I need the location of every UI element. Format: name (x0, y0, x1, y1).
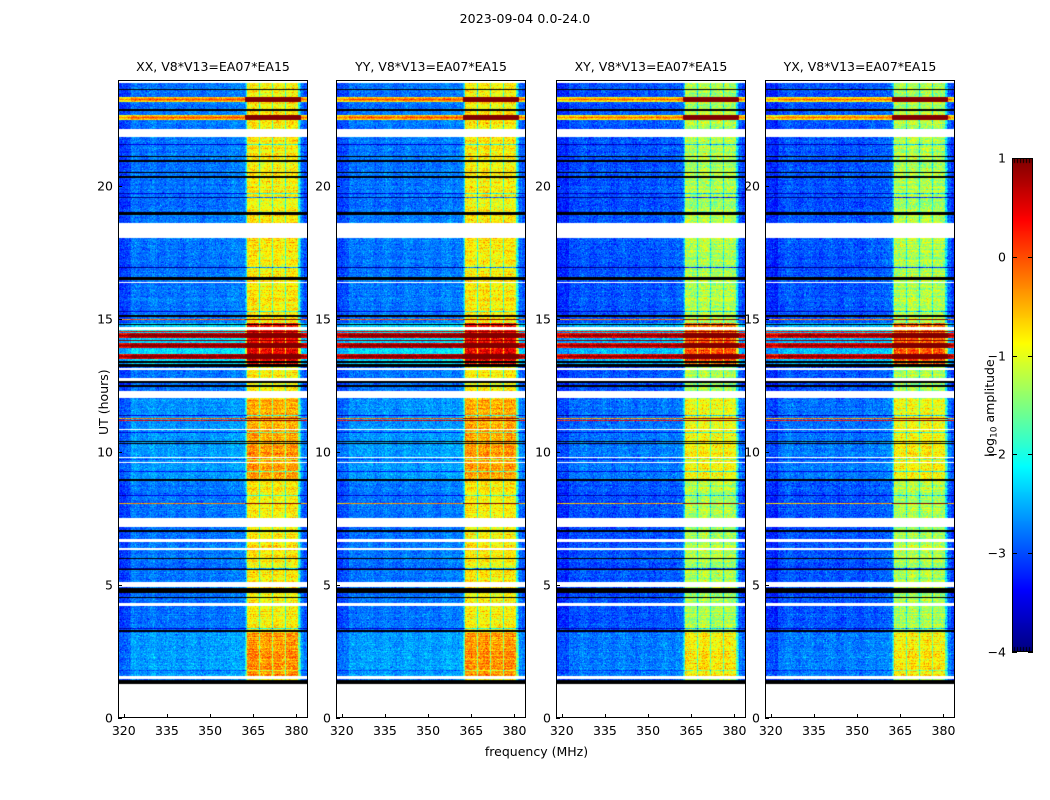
y-tickmark (336, 319, 340, 320)
x-tick-label: 320 (112, 723, 136, 738)
y-tick-label: 15 (88, 312, 113, 327)
y-tick-label: 20 (735, 179, 760, 194)
y-tick-label: 15 (306, 312, 331, 327)
x-tickmark (296, 714, 297, 718)
x-tick-label: 365 (241, 723, 265, 738)
x-tick-label: 350 (198, 723, 222, 738)
x-tick-label: 365 (459, 723, 483, 738)
y-tick-label: 10 (526, 445, 551, 460)
y-tickmark (556, 452, 560, 453)
x-tick-label: 320 (330, 723, 354, 738)
y-tick-label: 5 (526, 578, 551, 593)
y-tick-label: 5 (735, 578, 760, 593)
colorbar[interactable] (1012, 158, 1033, 652)
colorbar-tickmark (1028, 553, 1033, 554)
y-tickmark (765, 718, 769, 719)
colorbar-tickmark (1028, 356, 1033, 357)
x-tick-label: 320 (550, 723, 574, 738)
y-tick-label: 10 (306, 445, 331, 460)
x-tickmark (648, 714, 649, 718)
colorbar-tickmark (1012, 257, 1017, 258)
x-tickmark (253, 714, 254, 718)
y-tickmark (336, 585, 340, 586)
y-tickmark (118, 718, 122, 719)
x-tick-label: 365 (679, 723, 703, 738)
x-tickmark (167, 714, 168, 718)
panel-yx[interactable]: YX, V8*V13=EA07*EA15 (765, 80, 955, 718)
y-tickmark (765, 319, 769, 320)
panel-xx[interactable]: XX, V8*V13=EA07*EA15 (118, 80, 308, 718)
x-tickmark (691, 714, 692, 718)
y-tick-label: 0 (526, 711, 551, 726)
y-tickmark (556, 718, 560, 719)
x-tick-label: 335 (802, 723, 826, 738)
panel-yy[interactable]: YY, V8*V13=EA07*EA15 (336, 80, 526, 718)
y-tick-label: 5 (306, 578, 331, 593)
y-tickmark (118, 585, 122, 586)
x-tickmark (605, 714, 606, 718)
figure-suptitle: 2023-09-04 0.0-24.0 (0, 11, 1050, 26)
y-tick-label: 20 (526, 179, 551, 194)
panel-yx-waterfall-image (765, 80, 955, 718)
panel-xx-title: XX, V8*V13=EA07*EA15 (118, 59, 308, 74)
x-tickmark (771, 714, 772, 718)
panel-yx-title: YX, V8*V13=EA07*EA15 (765, 59, 955, 74)
y-tickmark (118, 186, 122, 187)
y-tickmark (118, 452, 122, 453)
x-tick-label: 350 (636, 723, 660, 738)
y-tick-label: 10 (735, 445, 760, 460)
colorbar-tickmark (1012, 356, 1017, 357)
y-tickmark (556, 585, 560, 586)
x-tick-label: 380 (285, 723, 309, 738)
x-tickmark (385, 714, 386, 718)
x-tick-label: 335 (593, 723, 617, 738)
y-tick-label: 0 (88, 711, 113, 726)
x-tickmark (900, 714, 901, 718)
y-tickmark (118, 319, 122, 320)
x-tick-label: 320 (759, 723, 783, 738)
colorbar-tickmark (1028, 454, 1033, 455)
y-tickmark (765, 585, 769, 586)
colorbar-tickmark (1012, 454, 1017, 455)
colorbar-gradient (1012, 158, 1033, 652)
y-tickmark (765, 186, 769, 187)
colorbar-tickmark (1028, 652, 1033, 653)
x-tickmark (428, 714, 429, 718)
x-tickmark (514, 714, 515, 718)
panel-xy-waterfall-image (556, 80, 746, 718)
x-tick-label: 380 (503, 723, 527, 738)
x-tickmark (124, 714, 125, 718)
x-tickmark (857, 714, 858, 718)
colorbar-tickmark (1028, 158, 1033, 159)
panel-yy-title: YY, V8*V13=EA07*EA15 (336, 59, 526, 74)
colorbar-label: log10 amplitude (982, 359, 999, 457)
y-tick-label: 0 (306, 711, 331, 726)
x-tick-label: 350 (416, 723, 440, 738)
y-tick-label: 15 (526, 312, 551, 327)
x-tick-label: 380 (932, 723, 956, 738)
x-tick-label: 365 (888, 723, 912, 738)
x-tickmark (562, 714, 563, 718)
colorbar-tickmark (1012, 553, 1017, 554)
y-tick-label: 20 (306, 179, 331, 194)
y-tick-label: 0 (735, 711, 760, 726)
x-tickmark (814, 714, 815, 718)
panel-xy[interactable]: XY, V8*V13=EA07*EA15 (556, 80, 746, 718)
colorbar-tick-label: −3 (976, 546, 1006, 561)
colorbar-tick-label: −4 (976, 645, 1006, 660)
y-tick-label: 15 (735, 312, 760, 327)
panel-xy-title: XY, V8*V13=EA07*EA15 (556, 59, 746, 74)
colorbar-tick-label: 1 (976, 151, 1006, 166)
y-tickmark (556, 186, 560, 187)
colorbar-tickmark (1028, 257, 1033, 258)
x-axis-label: frequency (MHz) (118, 744, 955, 759)
y-tick-label: 10 (88, 445, 113, 460)
y-tick-label: 20 (88, 179, 113, 194)
x-tick-label: 335 (373, 723, 397, 738)
y-tickmark (336, 186, 340, 187)
y-tickmark (765, 452, 769, 453)
colorbar-tick-label: 0 (976, 249, 1006, 264)
x-tick-label: 335 (155, 723, 179, 738)
y-tick-label: 5 (88, 578, 113, 593)
y-tickmark (556, 319, 560, 320)
colorbar-tickmark (1012, 158, 1017, 159)
x-tickmark (471, 714, 472, 718)
y-tickmark (336, 718, 340, 719)
panel-yy-waterfall-image (336, 80, 526, 718)
x-tickmark (342, 714, 343, 718)
y-axis-label: UT (hours) (96, 369, 111, 435)
colorbar-tickmark (1012, 652, 1017, 653)
x-tick-label: 350 (845, 723, 869, 738)
x-tickmark (210, 714, 211, 718)
figure-canvas: 2023-09-04 0.0-24.0 XX, V8*V13=EA07*EA15… (0, 0, 1050, 800)
x-tickmark (943, 714, 944, 718)
panel-xx-waterfall-image (118, 80, 308, 718)
y-tickmark (336, 452, 340, 453)
